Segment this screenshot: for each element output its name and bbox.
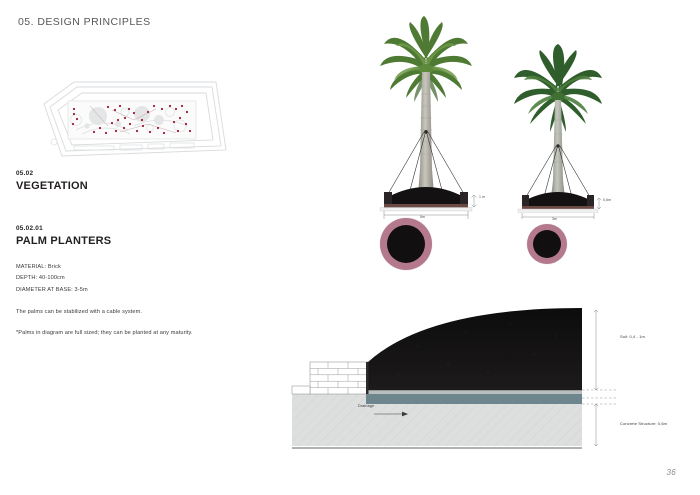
dimension-height-small (597, 198, 601, 209)
soil-fill-small (533, 230, 561, 258)
concrete-structure-note: Concrete Structure: 0,6m (620, 421, 667, 426)
drainage-label: Drainage (358, 404, 374, 408)
site-plan-axonometric (30, 76, 230, 164)
presentation-page: 05. DESIGN PRINCIPLES (0, 0, 700, 495)
section-vegetation: 05.02 VEGETATION (16, 170, 221, 192)
planter-plan-small (527, 224, 567, 264)
section-palm-planters: 05.02.01 PALM PLANTERS (16, 225, 221, 247)
construction-section-detail (278, 306, 618, 458)
brick-retaining-wall (292, 362, 369, 394)
left-text-column: 05.02 VEGETATION 05.02.01 PALM PLANTERS … (16, 170, 221, 339)
palm-small-height-label: 0,6m (603, 198, 611, 202)
palm-planters-title: PALM PLANTERS (16, 235, 221, 247)
spec-diameter: DIAMETER AT BASE: 3-5m (16, 285, 221, 296)
palm-small-width-label: 3m (552, 217, 557, 221)
vegetation-title: VEGETATION (16, 180, 221, 192)
brick-ring-small (527, 224, 567, 264)
palm-planters-number: 05.02.01 (16, 225, 221, 232)
section-extension-lines (582, 390, 618, 404)
palm-large-height-label: 1 m (479, 195, 485, 199)
spec-material: MATERIAL: Brick (16, 262, 221, 273)
vegetation-number: 05.02 (16, 170, 221, 177)
note-maturity: *Palms in diagram are full sized; they c… (16, 329, 221, 339)
palm-large-width-label: 5m (420, 215, 425, 219)
palm-elevation-large: 1 m 5m (362, 14, 492, 219)
section-dimension-lines (594, 310, 598, 446)
soil-depth-note: Soil: 0,4 - 1m (620, 334, 645, 339)
dimension-height-large (472, 195, 477, 207)
soil-fill-large (387, 225, 425, 263)
dimension-width-small (522, 213, 594, 219)
brick-ring-large (380, 218, 432, 270)
page-title: 05. DESIGN PRINCIPLES (18, 16, 151, 28)
dimension-width-large (384, 211, 468, 219)
soil-mound (368, 308, 582, 390)
palm-elevation-small: 0,6m 3m (500, 40, 618, 219)
drainage-layer (366, 394, 582, 404)
note-stabilize: The palms can be stabilized with a cable… (16, 308, 221, 318)
page-number: 36 (667, 468, 677, 477)
planter-base-small (518, 192, 598, 212)
spec-depth: DEPTH: 40-100cm (16, 273, 221, 284)
planter-plan-large (380, 218, 432, 270)
planter-base-large (380, 187, 472, 211)
specification-list: MATERIAL: Brick DEPTH: 40-100cm DIAMETER… (16, 262, 221, 296)
